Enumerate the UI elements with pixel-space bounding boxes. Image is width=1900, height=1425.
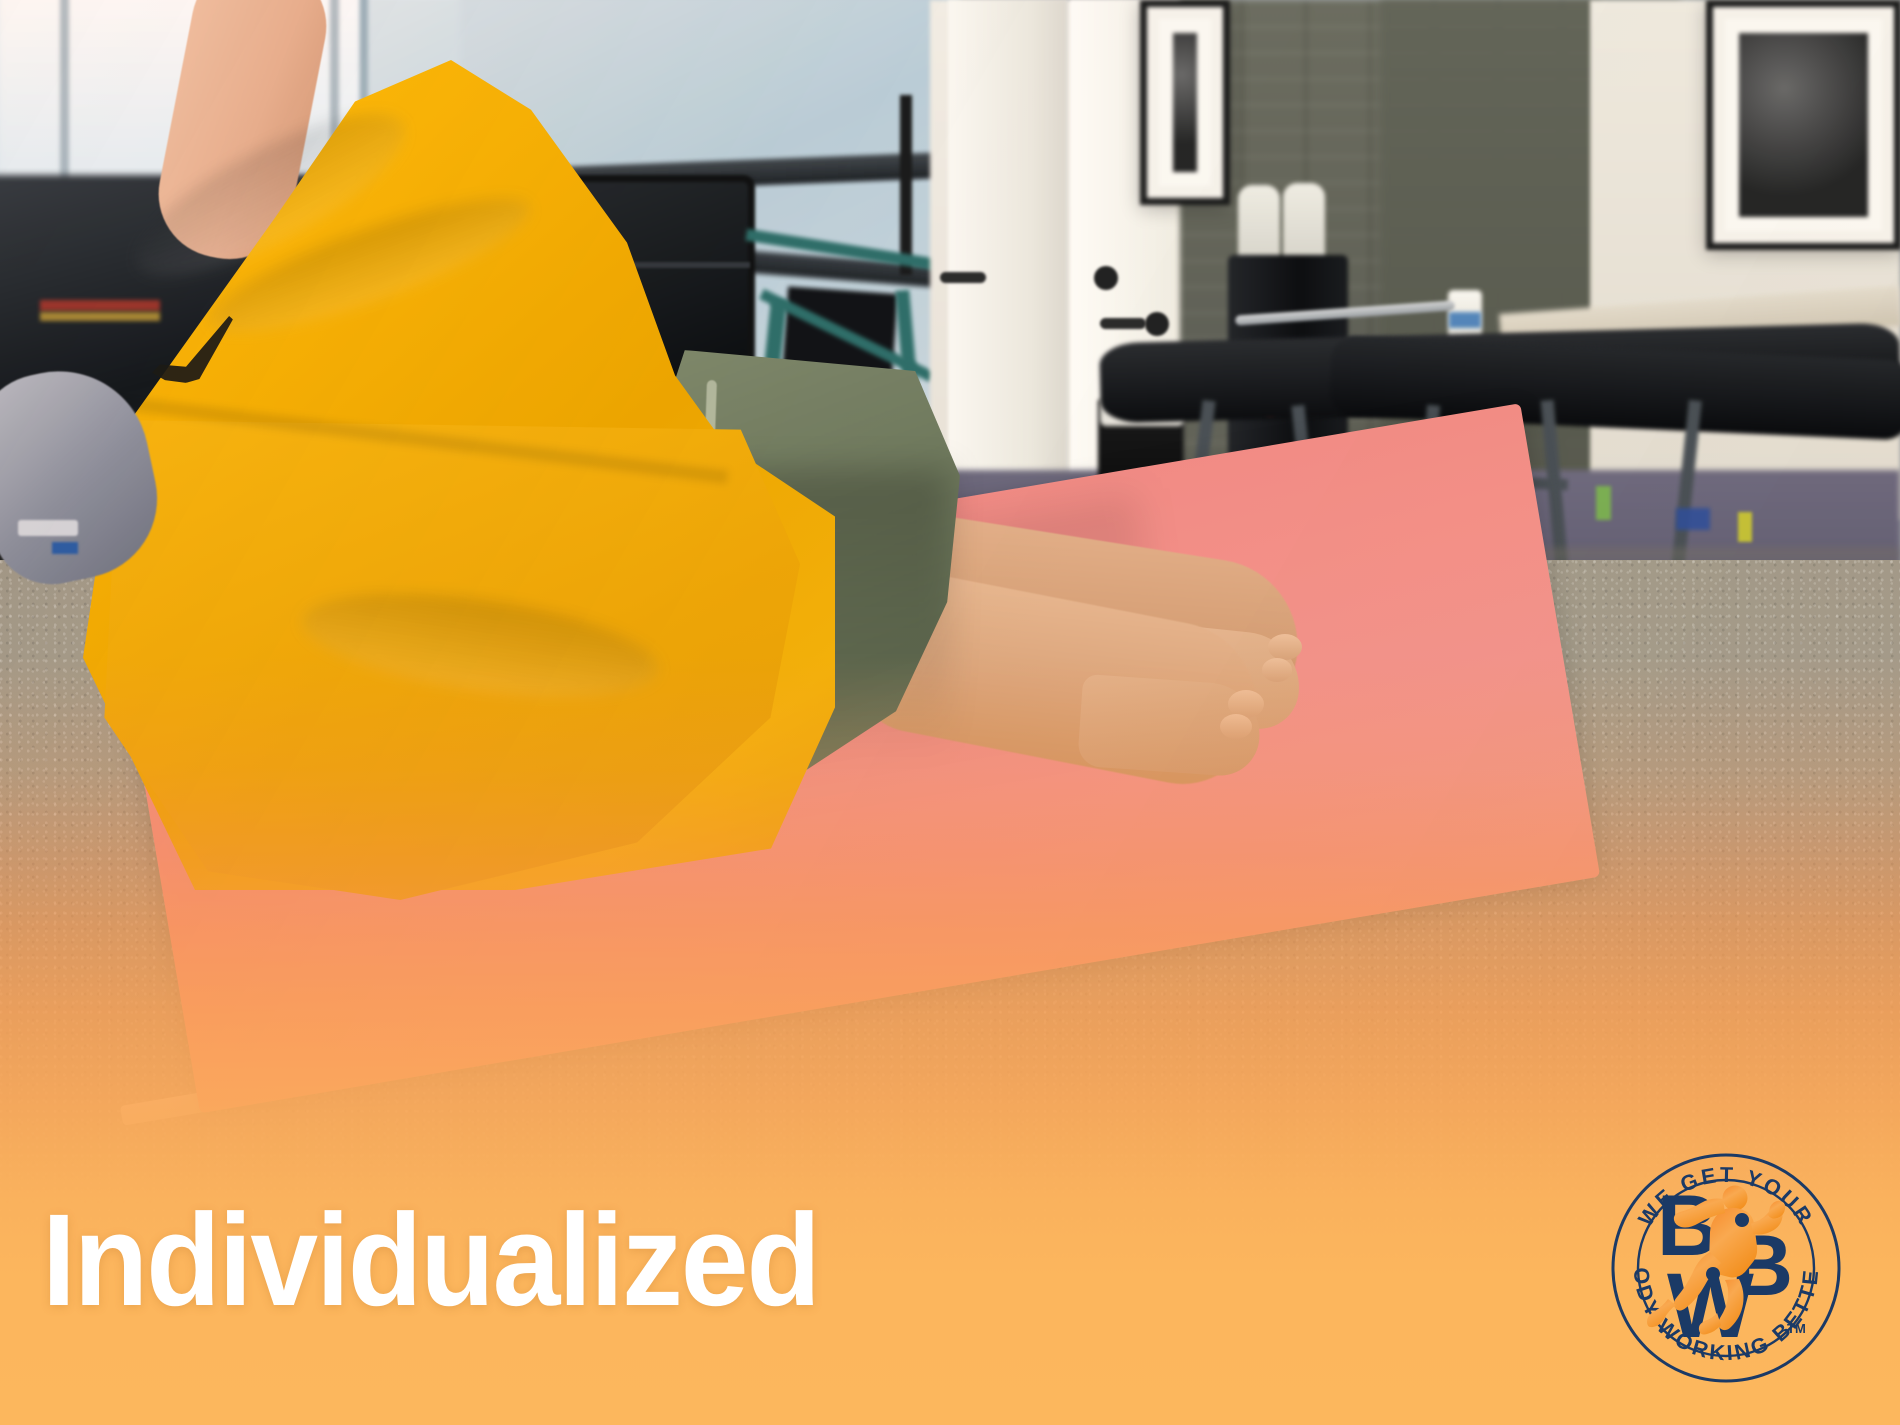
treadmill-stripe: [40, 312, 160, 321]
sleeve-tag: [18, 520, 78, 536]
headline-line-1: Individualized: [42, 1199, 1214, 1320]
logo-trademark-icon: TM: [1787, 1321, 1806, 1336]
toe: [1220, 714, 1252, 739]
sleeve-blue-mark: [52, 542, 78, 554]
table-accent: [1738, 512, 1752, 542]
door-handle-icon: [1100, 318, 1146, 329]
table-accent: [1596, 486, 1611, 520]
door-knob-icon: [1145, 312, 1169, 336]
logo-joint-dot: [1706, 1267, 1720, 1281]
headline: Individualized Exercise Programs: [42, 1078, 1214, 1425]
table-accent: [1676, 508, 1710, 530]
toe: [1268, 634, 1302, 660]
banner-canvas: Individualized Exercise Programs WE GET …: [0, 0, 1900, 1425]
bottle-label: [1449, 312, 1481, 328]
framed-artwork: [1140, 0, 1230, 205]
door-handle-icon: [940, 272, 986, 283]
framed-artwork: [1706, 0, 1900, 250]
bbw-logo[interactable]: WE GET YOUR BODY WORKING BETTER B B W: [1605, 1147, 1847, 1389]
treadmill-stripe: [40, 300, 160, 311]
logo-joint-dot: [1735, 1213, 1749, 1227]
toe: [1262, 658, 1292, 682]
band-pole: [900, 95, 912, 275]
door-knob-icon: [1094, 266, 1118, 290]
